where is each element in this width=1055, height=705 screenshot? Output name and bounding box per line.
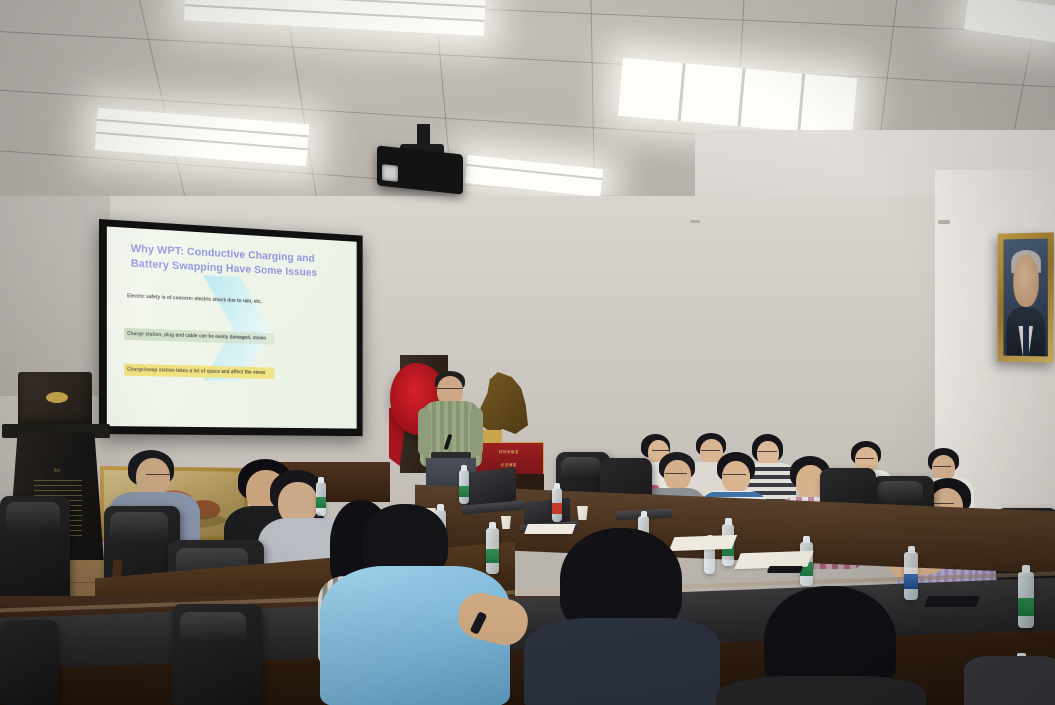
- person-glasses: [723, 474, 746, 477]
- person-glasses: [665, 473, 687, 476]
- person-glasses: [856, 458, 874, 461]
- framed-portrait: [998, 232, 1054, 362]
- slide-bullet-3: Charge/swap station takes a lot of space…: [124, 364, 275, 380]
- person-head: [722, 461, 750, 493]
- wall-vent: [938, 220, 950, 224]
- smartphone[interactable]: [924, 596, 980, 607]
- office-chair[interactable]: [172, 604, 262, 705]
- portrait-image: [1004, 239, 1048, 357]
- person-shirt: [964, 656, 1055, 705]
- person-shirt: [716, 676, 926, 705]
- projector-lens: [382, 164, 398, 182]
- plaque-line-2: 纪念牌匾: [475, 462, 543, 467]
- slide-title: Why WPT: Conductive Charging and Battery…: [131, 242, 340, 282]
- slide-bullet-1: Electric safety is of concern: electric …: [124, 290, 275, 308]
- projection-screen[interactable]: Why WPT: Conductive Charging and Battery…: [99, 219, 363, 436]
- slide-surface: Why WPT: Conductive Charging and Battery…: [107, 226, 357, 428]
- person-glasses: [146, 474, 172, 477]
- person-glasses: [701, 450, 720, 453]
- ding-gold-plate: [46, 392, 68, 403]
- person-head: [136, 458, 170, 496]
- presenter-glasses: [437, 388, 463, 391]
- water-bottle[interactable]: [1018, 572, 1034, 628]
- portrait-face: [1013, 255, 1039, 307]
- presenter-arm-right: [470, 408, 483, 456]
- person-glasses: [652, 450, 669, 453]
- wall-vent: [690, 220, 700, 223]
- water-bottle[interactable]: [904, 552, 918, 600]
- water-bottle[interactable]: [552, 488, 562, 522]
- left-wall: [0, 196, 110, 396]
- person-glasses: [758, 451, 777, 454]
- office-chair[interactable]: [0, 496, 70, 606]
- presenter-arm-left: [418, 408, 431, 456]
- document-paper[interactable]: [669, 535, 738, 551]
- water-bottle[interactable]: [459, 470, 469, 504]
- smartphone[interactable]: [767, 566, 804, 573]
- person-glasses: [933, 466, 951, 469]
- office-chair[interactable]: [0, 620, 58, 705]
- document-paper[interactable]: [524, 524, 576, 534]
- water-bottle[interactable]: [486, 528, 499, 574]
- conference-room-photo: Why WPT: Conductive Charging and Battery…: [0, 0, 1055, 705]
- plaque-line-1: 特别贡献奖: [475, 449, 543, 454]
- portrait-tie: [1023, 321, 1029, 356]
- pedestal-inscription: 铭文: [34, 468, 80, 473]
- person-shirt: [524, 618, 720, 705]
- water-bottle[interactable]: [316, 482, 326, 516]
